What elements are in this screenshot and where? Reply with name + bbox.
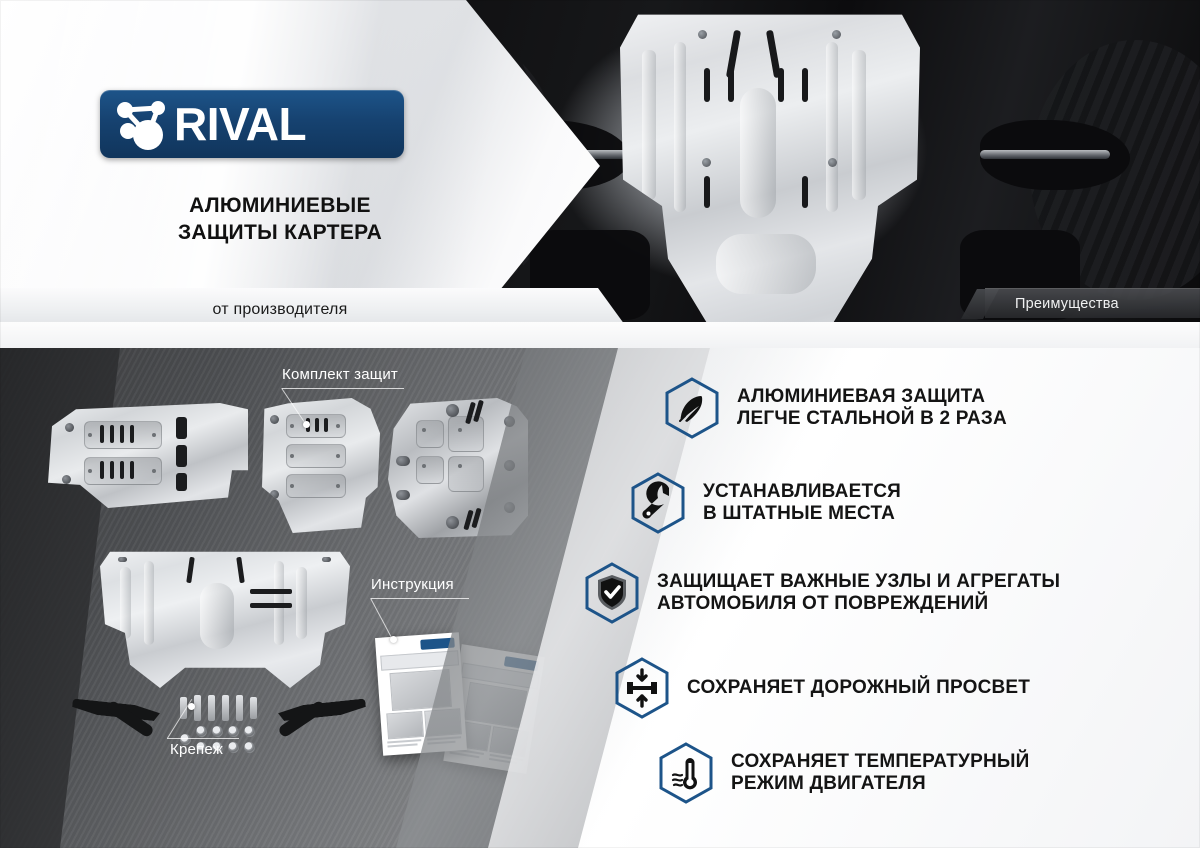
band-separator [0,322,1200,348]
callout-instruction-leader [370,598,393,641]
callout-kit-dot [303,421,310,428]
callout-instruction-dot [390,636,397,643]
infographic-canvas: RIVAL АЛЮМИНИЕВЫЕ ЗАЩИТЫ КАРТЕРА от прои… [0,0,1200,848]
page-title: АЛЮМИНИЕВЫЕ ЗАЩИТЫ КАРТЕРА [70,192,490,247]
benefit-item-5: СОХРАНЯЕТ ТЕМПЕРАТУРНЫЙ РЕЖИМ ДВИГАТЕЛЯ [657,741,1030,805]
rival-logo: RIVAL [100,90,404,158]
benefits-list: АЛЮМИНИЕВАЯ ЗАЩИТА ЛЕГЧЕ СТАЛЬНОЙ В 2 РА… [615,366,1195,836]
thermometer-icon [657,741,715,805]
benefit-item-1: АЛЮМИНИЕВАЯ ЗАЩИТА ЛЕГЧЕ СТАЛЬНОЙ В 2 РА… [663,376,1007,440]
benefit-label-5: СОХРАНЯЕТ ТЕМПЕРАТУРНЫЙ РЕЖИМ ДВИГАТЕЛЯ [731,751,1030,796]
tie-rod-right [980,150,1110,159]
installed-skid-plate [620,8,920,338]
callout-hardware-rule [167,738,239,739]
feather-icon [663,376,721,440]
callout-kit-rule [282,388,404,389]
benefit-item-3: ЗАЩИЩАЕТ ВАЖНЫЕ УЗЛЫ И АГРЕГАТЫ АВТОМОБИ… [583,561,1060,625]
callout-instruction-rule [371,598,469,599]
advantages-tab-label: Преимущества [1015,296,1119,312]
page-title-line-1: АЛЮМИНИЕВЫЕ [70,192,490,219]
benefit-label-4: СОХРАНЯЕТ ДОРОЖНЫЙ ПРОСВЕТ [687,677,1030,699]
logo-wordmark: RIVAL [174,101,306,147]
advantages-tab: Преимущества [985,288,1200,318]
benefit-label-3: ЗАЩИЩАЕТ ВАЖНЫЕ УЗЛЫ И АГРЕГАТЫ АВТОМОБИ… [657,571,1060,616]
callout-hardware-label: Крепеж [170,741,223,758]
skid-plate-2 [262,398,380,533]
benefit-item-2: УСТАНАВЛИВАЕТСЯ В ШТАТНЫЕ МЕСТА [629,471,901,535]
benefit-item-4: СОХРАНЯЕТ ДОРОЖНЫЙ ПРОСВЕТ [613,656,1030,720]
header-band: RIVAL АЛЮМИНИЕВЫЕ ЗАЩИТЫ КАРТЕРА от прои… [0,0,1200,348]
clearance-icon [613,656,671,720]
benefit-label-2: УСТАНАВЛИВАЕТСЯ В ШТАТНЫЕ МЕСТА [703,481,901,526]
callout-instruction-label: Инструкция [371,576,454,593]
molecule-icon [108,94,178,154]
wrench-icon [629,471,687,535]
content-band: Комплект защит Инструкция Крепеж АЛЮМИН [0,348,1200,848]
page-title-line-2: ЗАЩИТЫ КАРТЕРА [70,219,490,246]
callout-hardware-dot [188,703,195,710]
benefit-label-1: АЛЮМИНИЕВАЯ ЗАЩИТА ЛЕГЧЕ СТАЛЬНОЙ В 2 РА… [737,386,1007,431]
engine-skid-plate [100,543,350,688]
callout-kit-label: Комплект защит [282,366,398,383]
shield-check-icon [583,561,641,625]
